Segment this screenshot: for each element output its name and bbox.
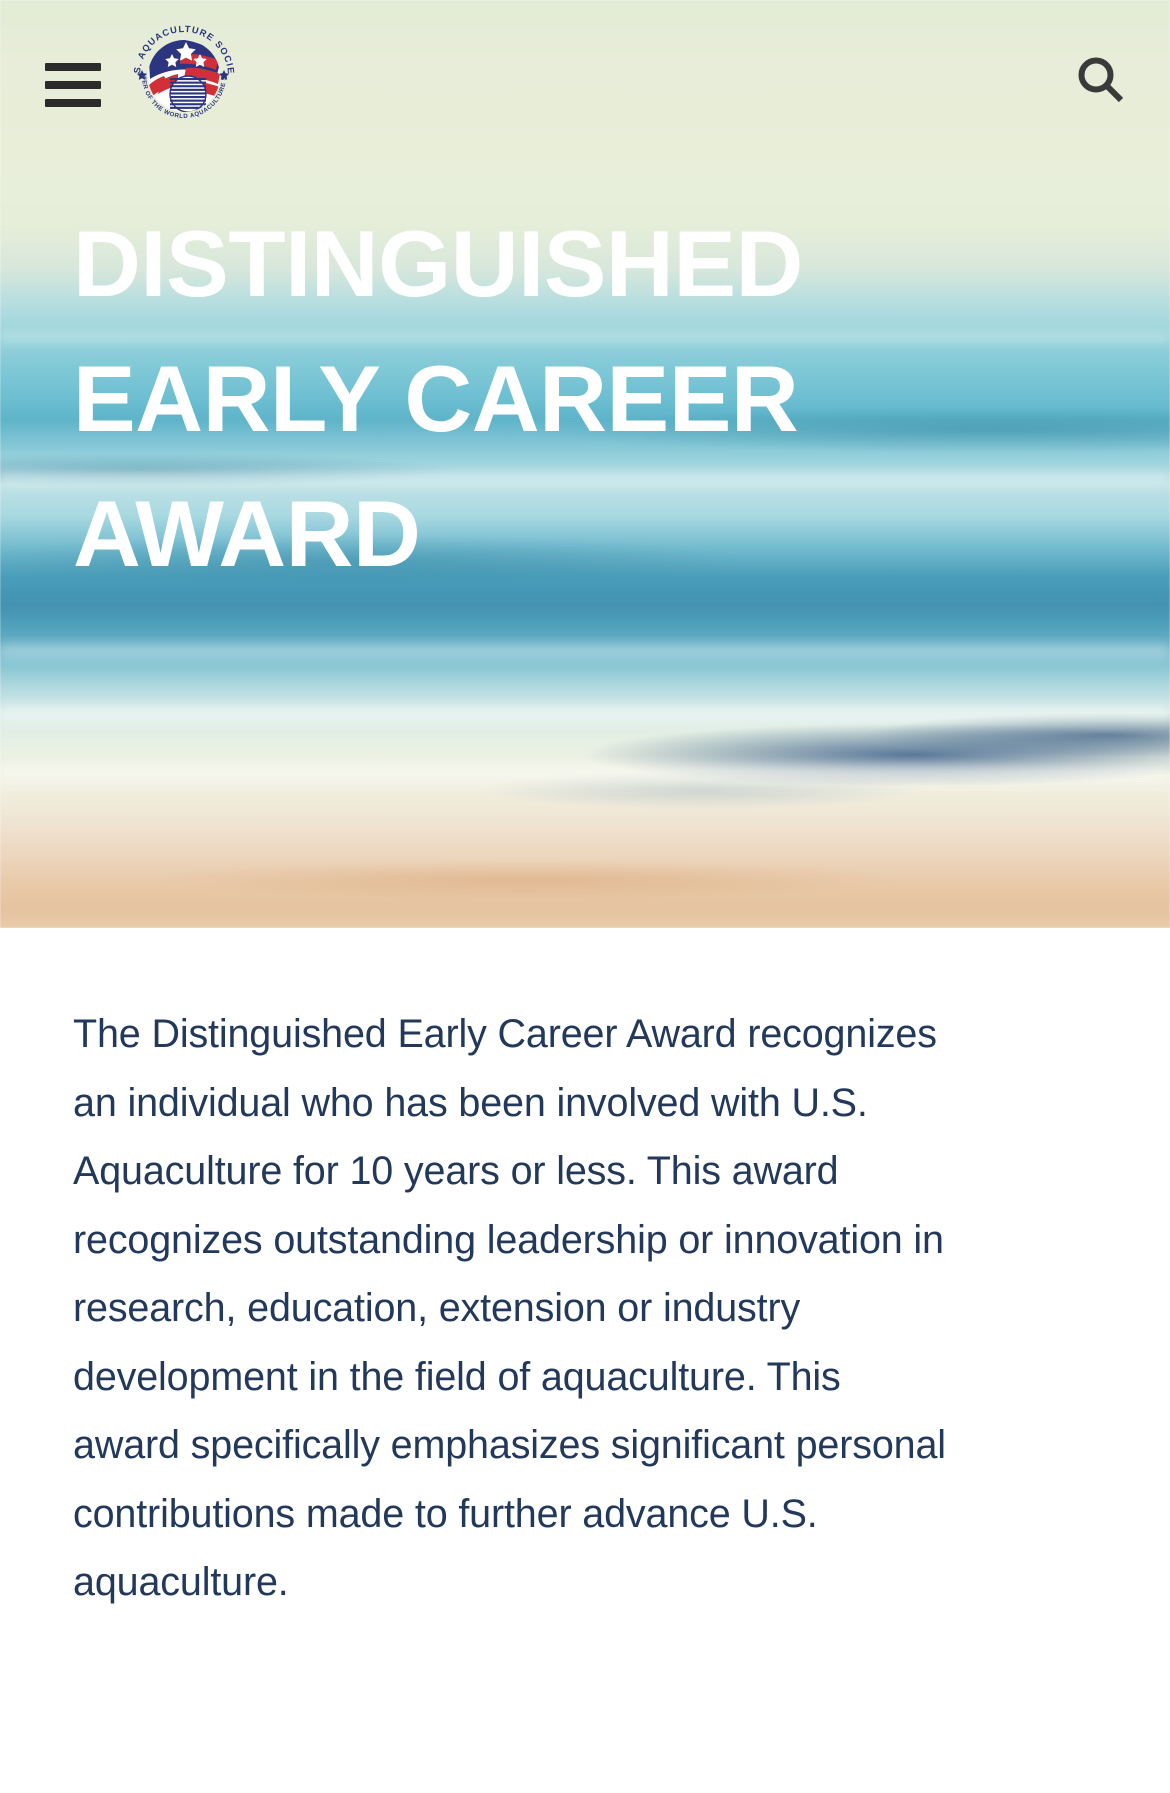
page-title: DISTINGUISHED EARLY CAREER AWARD <box>73 196 1073 601</box>
hamburger-menu-icon[interactable] <box>45 63 101 107</box>
page-root: DISTINGUISHED EARLY CAREER AWARD U. S. A… <box>0 0 1170 1793</box>
hamburger-bar-middle <box>45 81 101 89</box>
site-header: U. S. AQUACULTURE SOCIETY A CHAPTER OF T… <box>0 0 1170 140</box>
hamburger-bar-top <box>45 63 101 71</box>
search-icon[interactable] <box>1070 50 1132 112</box>
award-description-paragraph: The Distinguished Early Career Award rec… <box>73 1000 953 1617</box>
hamburger-bar-bottom <box>45 99 101 107</box>
site-logo[interactable]: U. S. AQUACULTURE SOCIETY A CHAPTER OF T… <box>128 20 240 132</box>
main-content: The Distinguished Early Career Award rec… <box>0 928 1170 1793</box>
